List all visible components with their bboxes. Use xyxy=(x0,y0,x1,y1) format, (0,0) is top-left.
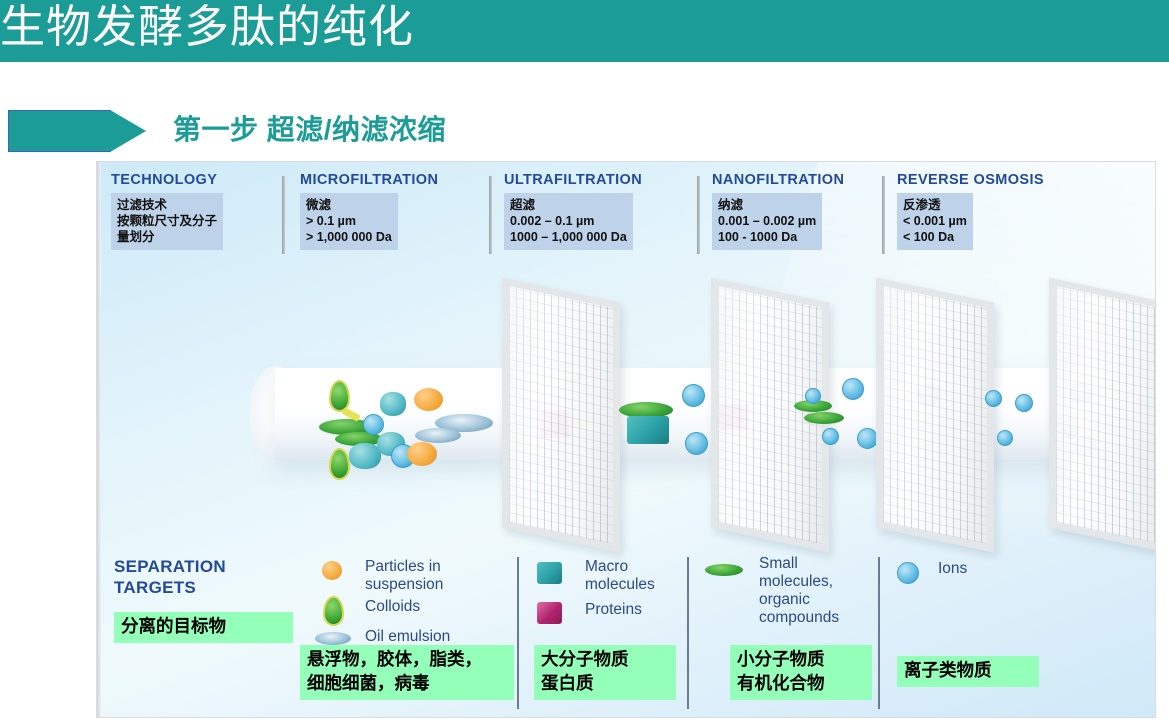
legend-title-line2: TARGETS xyxy=(114,577,226,598)
spec-line: > 0.1 µm xyxy=(306,213,392,229)
membrane-reverse-osmosis xyxy=(1049,277,1155,552)
spec-line: 微滤 xyxy=(306,197,392,213)
spec-header: ULTRAFILTRATION xyxy=(504,172,700,188)
page-title: 生物发酵多肽的纯化 xyxy=(0,0,414,58)
spec-line: < 100 Da xyxy=(903,229,967,245)
spec-header: MICROFILTRATION xyxy=(300,172,496,188)
particle-ion xyxy=(822,428,839,445)
spec-column-reverse-osmosis: REVERSE OSMOSIS 反渗透 < 0.001 µm < 100 Da xyxy=(897,172,1097,250)
particle-ion xyxy=(805,388,821,404)
protein-cube-icon xyxy=(537,602,562,624)
spec-body: 微滤 > 0.1 µm > 1,000 000 Da xyxy=(300,193,398,250)
membrane-microfiltration xyxy=(502,277,620,552)
spec-separator xyxy=(882,176,885,254)
spec-column-ultrafiltration: ULTRAFILTRATION 超滤 0.002 – 0.1 µm 1000 –… xyxy=(504,172,700,250)
spec-column-microfiltration: MICROFILTRATION 微滤 > 0.1 µm > 1,000 000 … xyxy=(300,172,496,250)
legend-label-macro-molecules: Macro molecules xyxy=(585,558,655,594)
membrane-illustration xyxy=(97,280,1155,555)
legend-highlight-group4: 离子类物质 xyxy=(897,656,1039,687)
particle-ion xyxy=(985,390,1002,407)
legend-label-proteins: Proteins xyxy=(585,601,642,619)
step-label: 第一步 超滤/纳滤浓缩 xyxy=(173,108,446,148)
spec-separator xyxy=(489,176,492,254)
legend-highlight-group2: 大分子物质蛋白质 xyxy=(534,645,676,700)
legend-highlight-group3: 小分子物质有机化合物 xyxy=(730,645,872,700)
spec-table: TECHNOLOGY 过滤技术 按颗粒尺寸及分子 量划分 MICROFILTRA… xyxy=(111,172,1141,280)
legend-label-particles: Particles in suspension xyxy=(365,558,443,594)
spec-line: 0.002 – 0.1 µm xyxy=(510,213,627,229)
legend-highlight-group1: 悬浮物，胶体，脂类，细胞细菌，病毒 xyxy=(300,645,514,700)
legend-title-highlight: 分离的目标物 xyxy=(114,612,293,643)
legend-highlight-line: 蛋白质 xyxy=(541,674,594,694)
legend-label-line: molecules xyxy=(585,576,655,594)
particle-suspension xyxy=(414,388,443,411)
particle-ion xyxy=(842,378,864,400)
slide-title-bar: 生物发酵多肽的纯化 xyxy=(0,0,1169,62)
spec-header: NANOFILTRATION xyxy=(712,172,892,188)
spec-line: 按颗粒尺寸及分子 xyxy=(117,213,217,229)
particle-ion xyxy=(857,428,878,449)
small-molecule-disc-icon xyxy=(705,564,743,576)
particle-ion xyxy=(1015,394,1033,412)
legend-label-line: Colloids xyxy=(365,598,420,616)
particle-oil-emulsion xyxy=(415,428,461,443)
spec-line: 反渗透 xyxy=(903,197,967,213)
particle-colloid xyxy=(329,380,350,412)
legend-label-ions: Ions xyxy=(938,560,967,578)
spec-body: 过滤技术 按颗粒尺寸及分子 量划分 xyxy=(111,193,223,250)
legend-highlight-line: 大分子物质 xyxy=(541,650,629,670)
legend-label-line: molecules, xyxy=(759,573,839,591)
spec-line: 超滤 xyxy=(510,197,627,213)
macro-molecule-cube-icon xyxy=(537,562,562,584)
slide-root: 生物发酵多肽的纯化 第一步 超滤/纳滤浓缩 TECHNOLOGY 过滤技术 按颗… xyxy=(0,0,1169,725)
particle-virus xyxy=(380,392,406,416)
spec-line: < 0.001 µm xyxy=(903,213,967,229)
particle-ion xyxy=(363,414,384,435)
legend-separator xyxy=(878,557,880,709)
spec-body: 超滤 0.002 – 0.1 µm 1000 – 1,000 000 Da xyxy=(504,193,633,250)
legend-label-colloids: Colloids xyxy=(365,598,420,616)
legend-label-line: Oil emulsion xyxy=(365,628,450,646)
colloid-icon xyxy=(323,596,344,626)
separation-targets-legend: SEPARATION TARGETS 分离的目标物 Particles in s… xyxy=(97,554,1155,717)
legend-label-small-molecules: Small molecules, organic compounds xyxy=(759,555,839,627)
legend-label-line: suspension xyxy=(365,576,443,594)
legend-label-line: Particles in xyxy=(365,558,443,576)
spec-line: 0.001 – 0.002 µm xyxy=(718,213,816,229)
particle-macro-molecule xyxy=(627,416,669,444)
legend-highlight-line: 有机化合物 xyxy=(737,674,825,694)
legend-label-line: Small xyxy=(759,555,839,573)
oil-emulsion-icon xyxy=(315,632,351,645)
membrane-nanofiltration xyxy=(876,277,994,552)
filtration-figure-panel: TECHNOLOGY 过滤技术 按颗粒尺寸及分子 量划分 MICROFILTRA… xyxy=(97,162,1155,717)
spec-line: 纳滤 xyxy=(718,197,816,213)
spec-line: 量划分 xyxy=(117,229,217,245)
legend-label-line: Proteins xyxy=(585,601,642,619)
spec-column-nanofiltration: NANOFILTRATION 纳滤 0.001 – 0.002 µm 100 -… xyxy=(712,172,892,250)
legend-label-line: Macro xyxy=(585,558,655,576)
particle-ion xyxy=(997,430,1013,446)
particle-small-molecule xyxy=(804,412,844,424)
spec-line: 100 - 1000 Da xyxy=(718,229,816,245)
ion-icon xyxy=(897,562,919,584)
legend-label-line: compounds xyxy=(759,609,839,627)
orange-particle-icon xyxy=(322,561,342,580)
legend-highlight-line: 小分子物质 xyxy=(737,650,825,670)
legend-highlight-line: 细胞细菌，病毒 xyxy=(307,674,430,694)
spec-body: 纳滤 0.001 – 0.002 µm 100 - 1000 Da xyxy=(712,193,822,250)
particle-ion xyxy=(685,432,708,455)
particle-colloid xyxy=(329,448,350,480)
legend-label-oil-emulsion: Oil emulsion xyxy=(365,628,450,646)
spec-line: 1000 – 1,000 000 Da xyxy=(510,229,627,245)
particle-suspension xyxy=(407,442,437,466)
legend-title-line1: SEPARATION xyxy=(114,556,226,577)
particle-ion xyxy=(682,384,705,407)
legend-label-line: organic xyxy=(759,591,839,609)
legend-highlight-line: 悬浮物，胶体，脂类， xyxy=(307,650,482,670)
spec-header: REVERSE OSMOSIS xyxy=(897,172,1097,188)
legend-separator xyxy=(517,557,519,709)
spec-line: > 1,000 000 Da xyxy=(306,229,392,245)
legend-label-line: Ions xyxy=(938,560,967,578)
spec-separator xyxy=(697,176,700,254)
spec-body: 反渗透 < 0.001 µm < 100 Da xyxy=(897,193,973,250)
step-arrow-shape xyxy=(8,110,146,152)
legend-separator xyxy=(687,557,689,709)
spec-line: 过滤技术 xyxy=(117,197,217,213)
legend-title: SEPARATION TARGETS xyxy=(114,556,226,598)
spec-separator xyxy=(282,176,285,254)
